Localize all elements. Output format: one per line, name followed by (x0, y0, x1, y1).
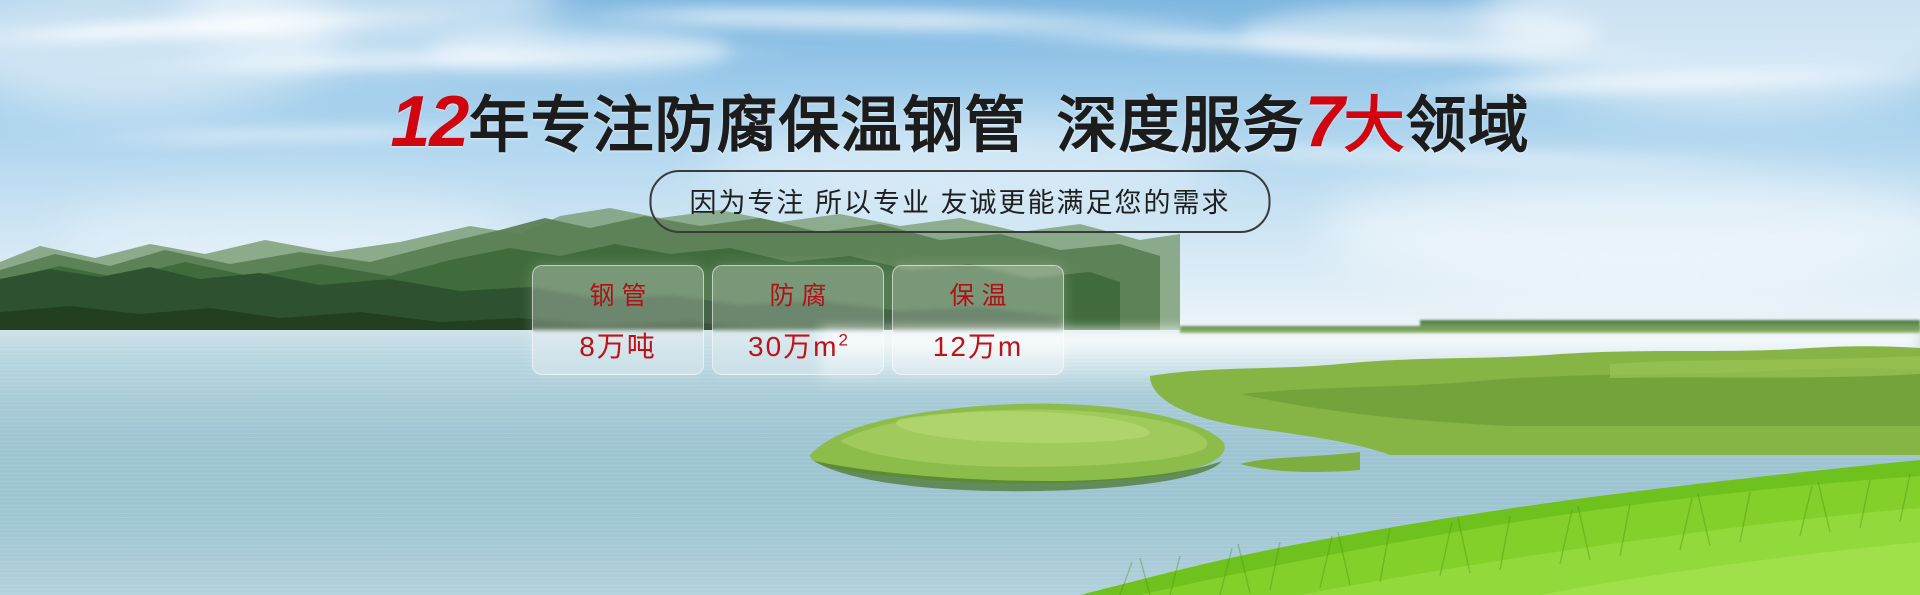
stat-card-anticorrosion[interactable]: 防腐 30万m2 (712, 265, 884, 375)
headline-text-fields: 领域 (1406, 91, 1530, 159)
far-shore-strip (1420, 320, 1920, 329)
stat-card-group: 钢管 8万吨 防腐 30万m2 保温 12万m (532, 265, 1064, 375)
cloud (1240, 6, 1600, 60)
headline-text-da: 大 (1344, 91, 1406, 159)
grass-blade-texture (1080, 430, 1920, 595)
stat-card-value: 30万m2 (748, 325, 848, 365)
stat-card-title: 钢管 (582, 276, 653, 312)
headline-text-main: 年专注防腐保温钢管 (468, 91, 1026, 159)
stat-card-value-text: 12万m (933, 331, 1023, 362)
hero-banner: 12年专注防腐保温钢管深度服务7大领域 因为专注 所以专业 友诚更能满足您的需求… (0, 0, 1920, 595)
stat-card-value: 8万吨 (579, 325, 657, 365)
headline-number-years: 12 (390, 82, 468, 162)
headline-text-service: 深度服务 (1057, 91, 1305, 159)
headline-number-fields: 7 (1305, 82, 1344, 162)
stat-card-value-text: 30万m (748, 331, 838, 362)
stat-card-value: 12万m (933, 325, 1023, 365)
cloud (430, 28, 730, 74)
stat-card-title: 防腐 (762, 276, 833, 312)
stat-card-value-superscript: 2 (839, 330, 848, 349)
stat-card-value-text: 8万吨 (579, 331, 657, 362)
stat-card-insulation[interactable]: 保温 12万m (892, 265, 1064, 375)
subtitle-pill: 因为专注 所以专业 友诚更能满足您的需求 (649, 170, 1270, 233)
stat-card-steel-pipe[interactable]: 钢管 8万吨 (532, 265, 704, 375)
page-title: 12年专注防腐保温钢管深度服务7大领域 (0, 86, 1920, 158)
stat-card-title: 保温 (942, 276, 1013, 312)
